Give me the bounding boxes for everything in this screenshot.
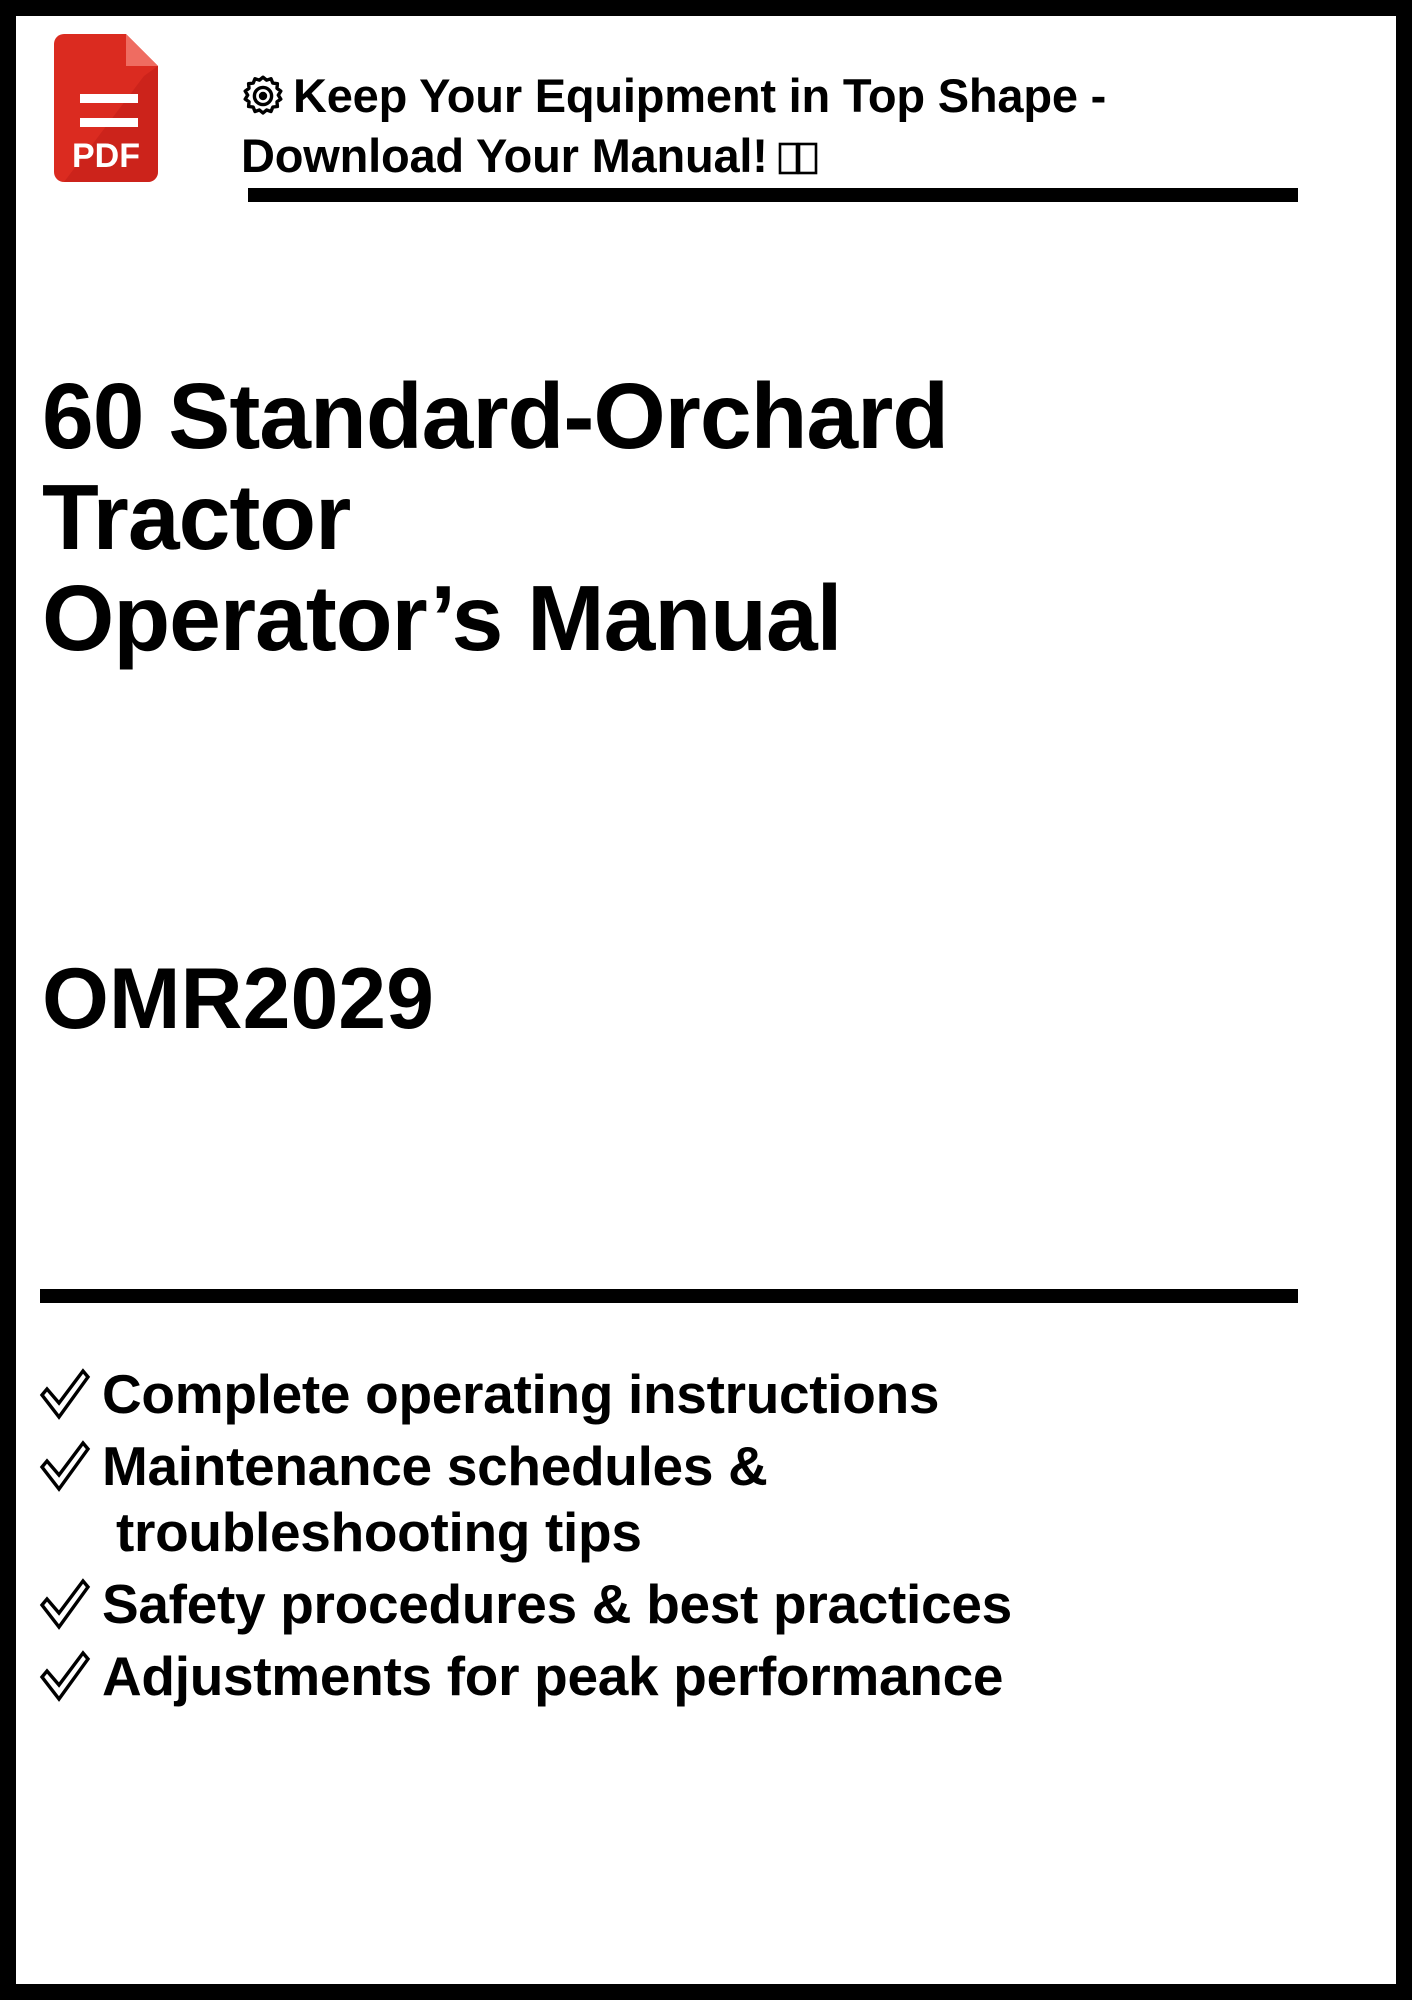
list-item: Safety procedures & best practices [38, 1571, 1348, 1637]
pdf-listing-card: PDF Keep Your Equipment in Top Shape - D… [16, 16, 1396, 1984]
feature-text-main: Maintenance schedules & [102, 1435, 768, 1497]
list-item: Complete operating instructions [38, 1361, 1348, 1427]
header-text-block: Keep Your Equipment in Top Shape - Downl… [241, 66, 1351, 186]
feature-text: Adjustments for peak performance [102, 1643, 1003, 1709]
open-book-icon [778, 141, 818, 177]
check-mark-icon [38, 1643, 92, 1707]
document-title-line-1: 60 Standard-Orchard [42, 366, 1242, 467]
svg-text:PDF: PDF [72, 137, 140, 175]
check-mark-icon [38, 1571, 92, 1635]
feature-text: Safety procedures & best practices [102, 1571, 1012, 1637]
feature-text-main: Safety procedures & best practices [102, 1573, 1012, 1635]
feature-text-main: Complete operating instructions [102, 1363, 939, 1425]
feature-list: Complete operating instructions Maintena… [38, 1361, 1348, 1715]
list-item: Adjustments for peak performance [38, 1643, 1348, 1709]
title-block: 60 Standard-Orchard Tractor Operator’s M… [42, 366, 1242, 669]
header-tagline-text-1: Keep Your Equipment in Top Shape - [293, 69, 1106, 122]
header-tagline-text-2: Download Your Manual! [241, 129, 768, 182]
feature-text-main: Adjustments for peak performance [102, 1645, 1003, 1707]
gear-icon [241, 74, 285, 118]
feature-text: Maintenance schedules & troubleshooting … [102, 1433, 768, 1565]
feature-text-continuation: troubleshooting tips [102, 1499, 768, 1565]
header-tagline-line-1: Keep Your Equipment in Top Shape - [241, 66, 1351, 126]
document-title-line-3: Operator’s Manual [42, 568, 1242, 669]
pdf-file-icon: PDF [44, 32, 160, 184]
document-title-line-2: Tractor [42, 467, 1242, 568]
model-number: OMR2029 [42, 951, 434, 1047]
header: PDF Keep Your Equipment in Top Shape - D… [16, 16, 1396, 266]
header-tagline-line-2: Download Your Manual! [241, 126, 1351, 186]
header-divider-rule [248, 188, 1298, 202]
list-item: Maintenance schedules & troubleshooting … [38, 1433, 1348, 1565]
features-divider-rule [40, 1289, 1298, 1303]
page-frame: PDF Keep Your Equipment in Top Shape - D… [0, 0, 1412, 2000]
check-mark-icon [38, 1361, 92, 1425]
check-mark-icon [38, 1433, 92, 1497]
feature-text: Complete operating instructions [102, 1361, 939, 1427]
